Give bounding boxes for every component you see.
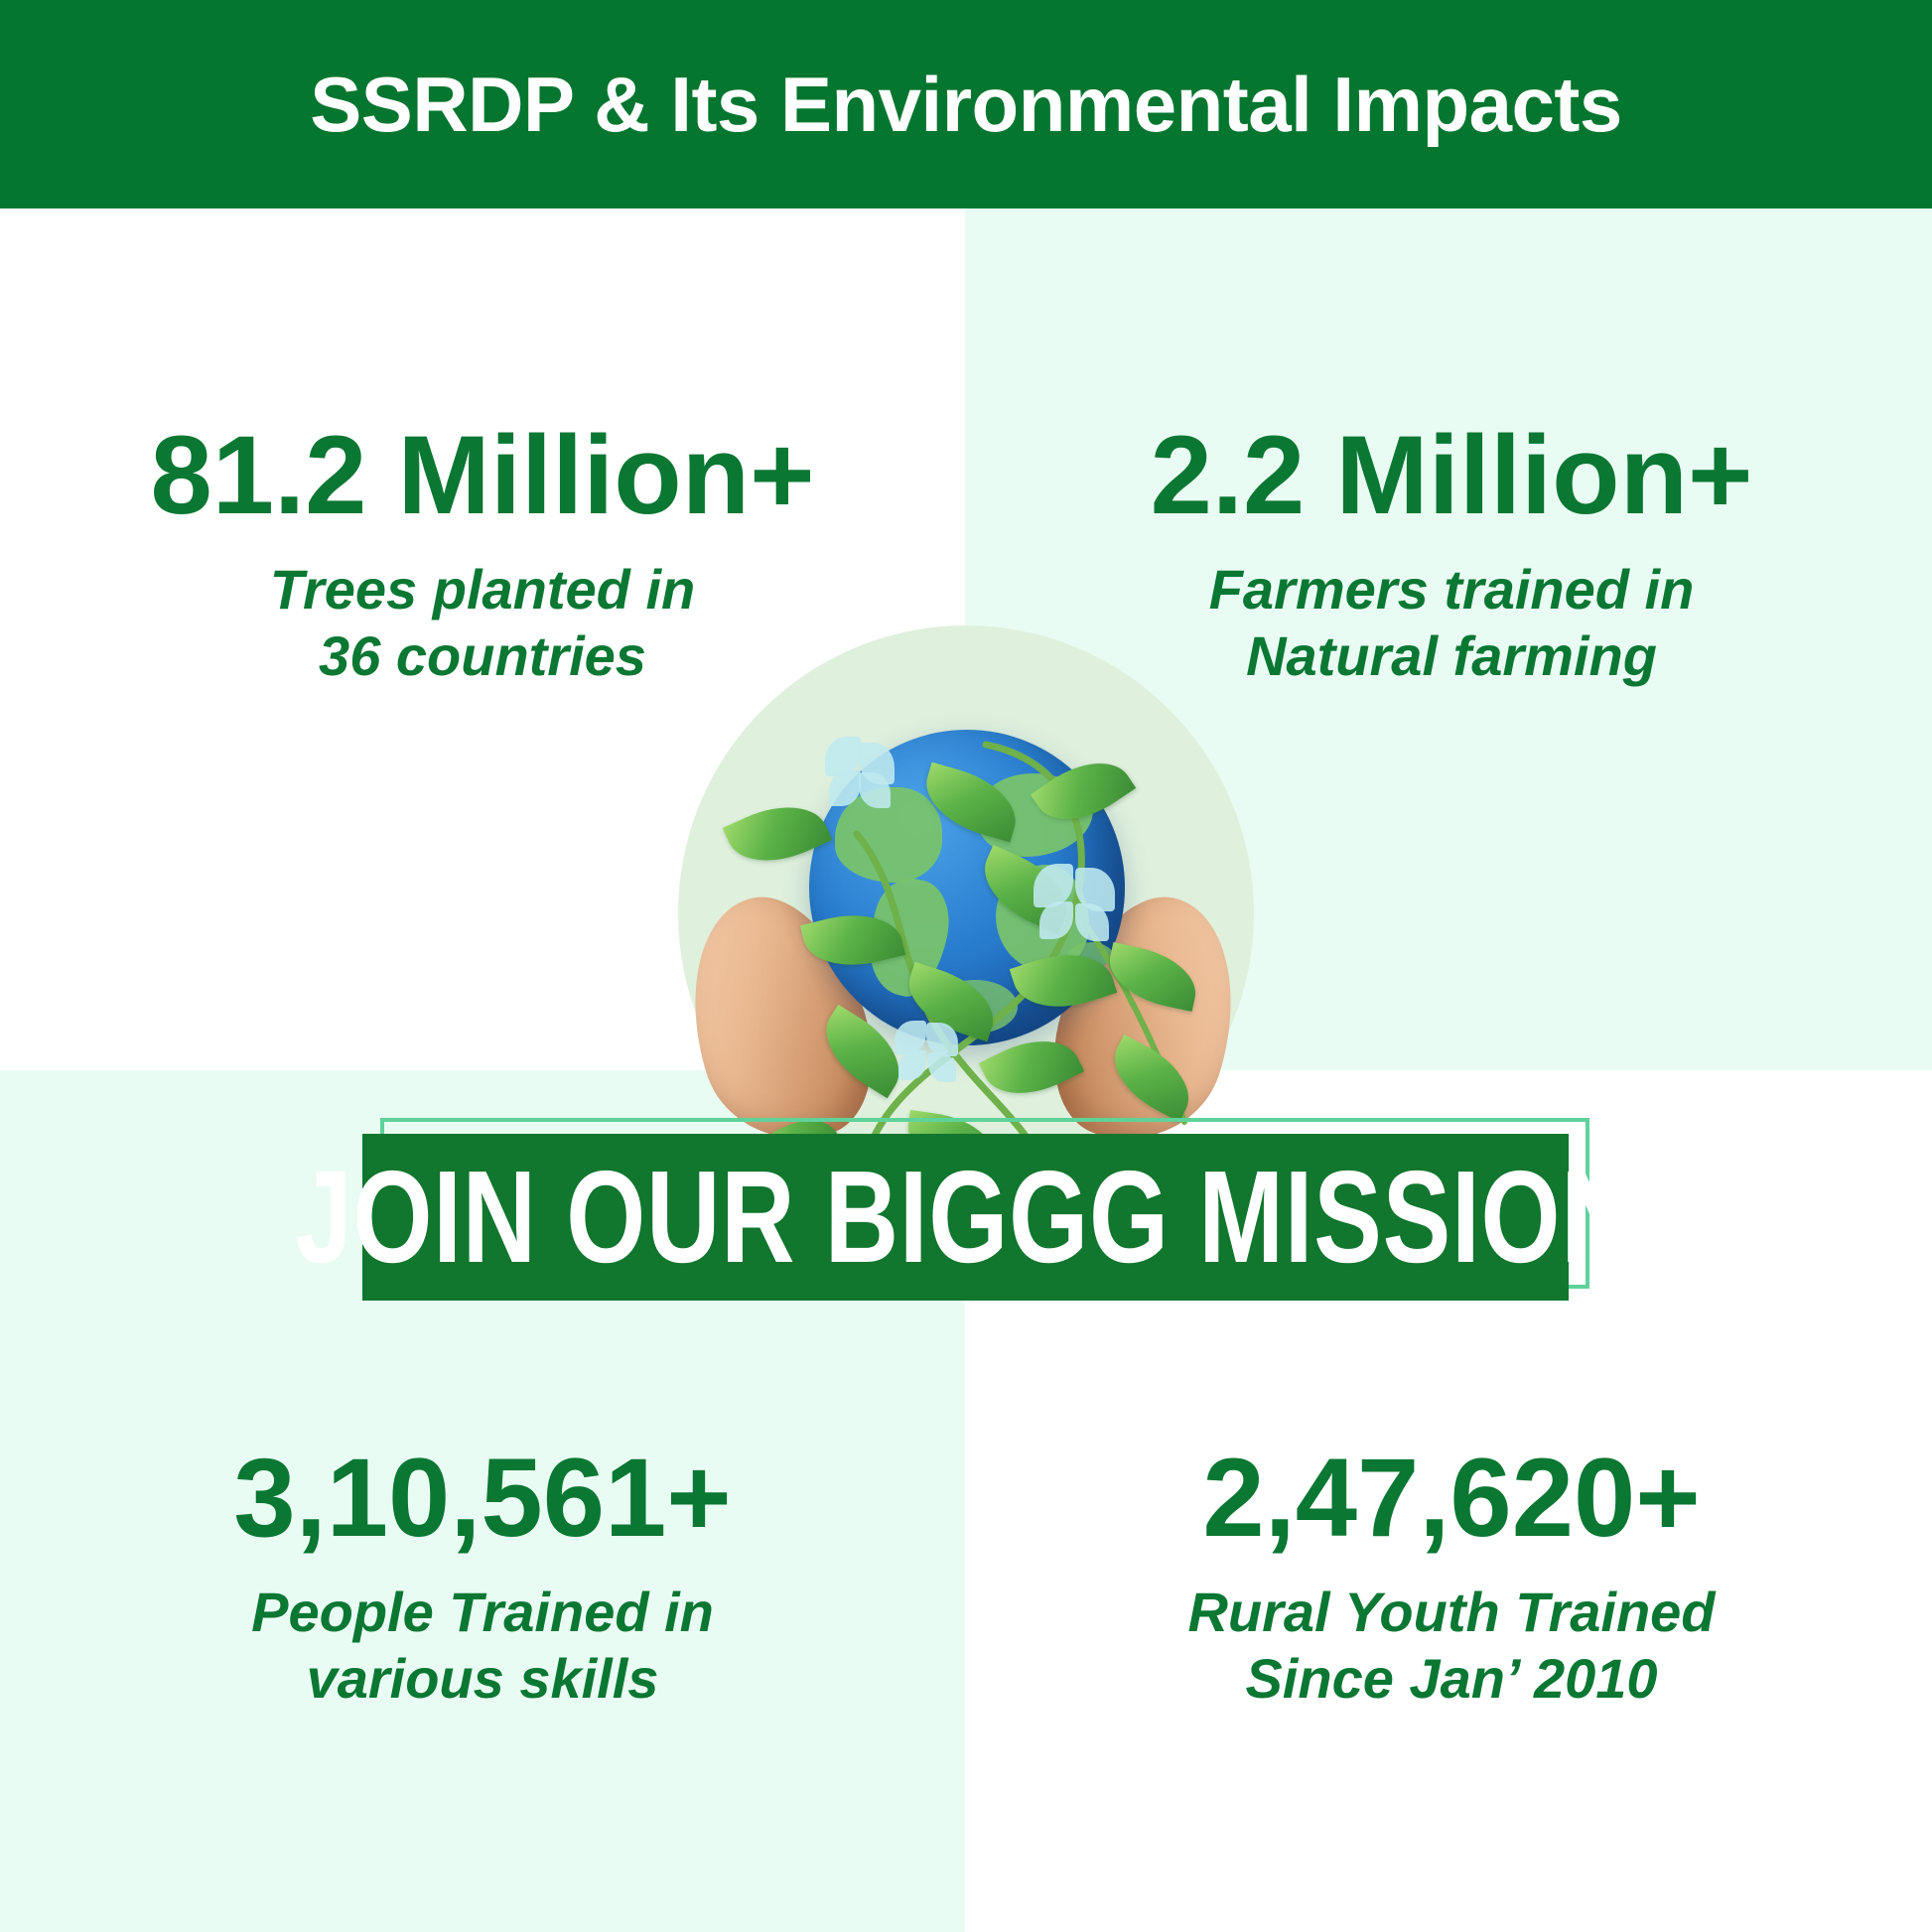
stat-value: 3,10,561+ [64,1440,901,1557]
header-bar: SSRDP & Its Environmental Impacts [0,0,1932,208]
stat-label: People Trained in various skills [64,1579,901,1712]
banner-text: JOIN OUR BIGGG MISSION [295,1152,1635,1283]
stat-label-line-1: People Trained in [64,1579,901,1645]
stat-label-line-2: various skills [64,1645,901,1712]
butterfly-icon [825,737,897,812]
stat-block-people-trained: 3,10,561+ People Trained in various skil… [64,1440,901,1712]
stat-block-rural-youth-trained: 2,47,620+ Rural Youth Trained Since Jan’… [1033,1440,1870,1712]
stat-label-line-1: Trees planted in [64,556,901,622]
mission-banner[interactable]: JOIN OUR BIGGG MISSION [352,1118,1603,1316]
banner-fill[interactable]: JOIN OUR BIGGG MISSION [362,1134,1569,1301]
butterfly-icon [895,1021,960,1086]
stat-label: Rural Youth Trained Since Jan’ 2010 [1033,1579,1870,1712]
butterfly-icon [1034,864,1117,945]
stat-label-line-1: Farmers trained in [1033,556,1870,622]
stat-label-line-2: Since Jan’ 2010 [1033,1645,1870,1712]
stat-value: 81.2 Million+ [64,417,901,534]
stat-value: 2,47,620+ [1033,1440,1870,1557]
stat-value: 2.2 Million+ [1033,417,1870,534]
page-title: SSRDP & Its Environmental Impacts [310,66,1621,143]
stat-label-line-1: Rural Youth Trained [1033,1579,1870,1645]
infographic-poster: SSRDP & Its Environmental Impacts 81.2 M… [0,0,1932,1932]
